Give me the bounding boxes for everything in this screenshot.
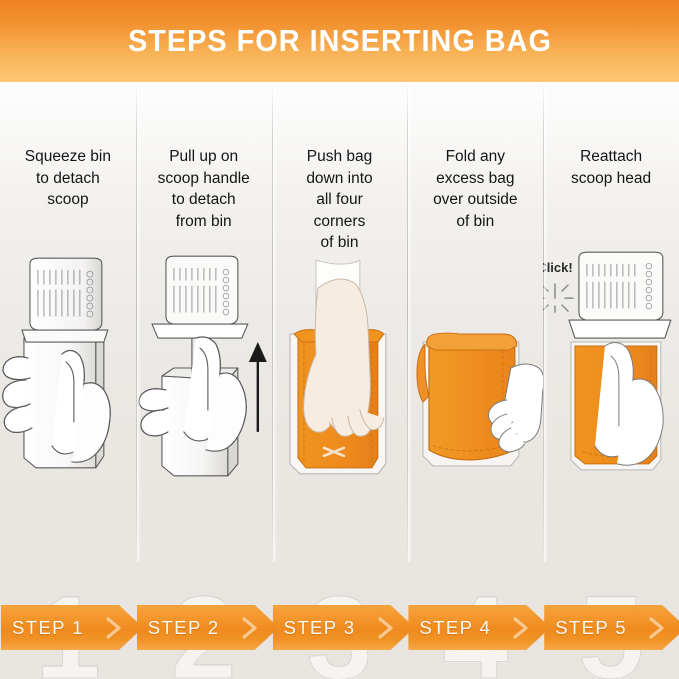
step-panel-1: Squeeze bin to detach scoop [0, 82, 136, 679]
click-annotation-text: Click! [543, 260, 573, 275]
chevron-right-icon [511, 616, 531, 640]
step-caption-3: Push bag down into all four corners of b… [275, 146, 405, 254]
step-banner-4[interactable]: STEP 4 [408, 605, 550, 650]
chevron-right-icon [376, 616, 396, 640]
step-caption-4: Fold any excess bag over outside of bin [410, 146, 540, 232]
step-caption-5: Reattach scoop head [546, 146, 676, 189]
step-banner-label-2: STEP 2 [148, 617, 220, 639]
step-panel-3: Push bag down into all four corners of b… [272, 82, 408, 679]
chevron-right-icon [647, 616, 667, 640]
step-banner-label-1: STEP 1 [12, 617, 84, 639]
step-banner-row: STEP 1 STEP 2 STEP 3 [0, 605, 679, 650]
step-panel-2: Pull up on scoop handle to detach from b… [136, 82, 272, 679]
step-illustration-3 [272, 250, 408, 500]
step-banner-slot-2: STEP 2 [136, 605, 272, 650]
instruction-sheet: STEPS FOR INSERTING BAG Squeeze bin to d… [0, 0, 679, 679]
step-banner-label-3: STEP 3 [284, 617, 356, 639]
step-panel-5: Reattach scoop head [543, 82, 679, 679]
chevron-right-icon [104, 616, 124, 640]
step-banner-slot-5: STEP 5 [543, 605, 679, 650]
chevron-right-icon [240, 616, 260, 640]
step-banner-1[interactable]: STEP 1 [1, 605, 143, 650]
step-banner-2[interactable]: STEP 2 [137, 605, 279, 650]
step-illustration-5: Click! [543, 250, 679, 500]
page-title: STEPS FOR INSERTING BAG [128, 23, 552, 59]
click-starburst-icon [543, 284, 573, 312]
step-banner-5[interactable]: STEP 5 [544, 605, 679, 650]
step-banner-slot-4: STEP 4 [407, 605, 543, 650]
step-banner-label-5: STEP 5 [555, 617, 627, 639]
step-panels: Squeeze bin to detach scoop [0, 82, 679, 679]
up-arrow-icon [249, 342, 267, 432]
step-panel-4: Fold any excess bag over outside of bin [407, 82, 543, 679]
step-caption-2: Pull up on scoop handle to detach from b… [139, 146, 269, 232]
step-illustration-4 [407, 250, 543, 500]
step-banner-label-4: STEP 4 [419, 617, 491, 639]
steps-body: Squeeze bin to detach scoop [0, 82, 679, 679]
step-banner-3[interactable]: STEP 3 [273, 605, 415, 650]
step-banner-slot-3: STEP 3 [272, 605, 408, 650]
header-banner: STEPS FOR INSERTING BAG [0, 0, 679, 82]
step-illustration-1 [0, 250, 136, 500]
step-illustration-2 [136, 250, 272, 500]
step-caption-1: Squeeze bin to detach scoop [3, 146, 133, 211]
step-banner-slot-1: STEP 1 [0, 605, 136, 650]
